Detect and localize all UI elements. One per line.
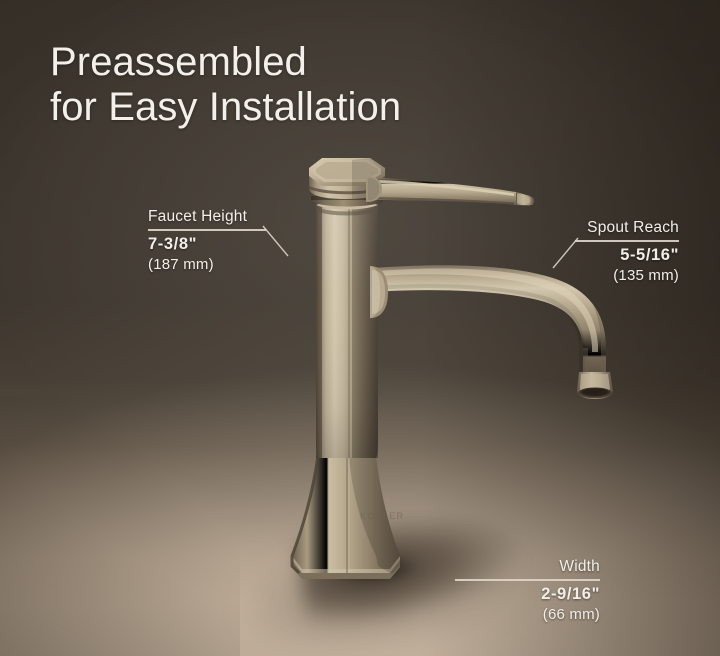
callout-width: Width 2-9/16" (66 mm) xyxy=(455,558,600,623)
callout-imperial-value: 5-5/16" xyxy=(575,246,679,265)
faucet-lever-handle xyxy=(366,176,534,206)
callout-imperial-value: 7-3/8" xyxy=(148,235,266,254)
brand-engraving: KOHLER xyxy=(360,511,404,521)
callout-rule xyxy=(455,579,600,581)
callout-title: Width xyxy=(455,558,600,576)
callout-metric-value: (135 mm) xyxy=(575,267,679,284)
callout-title: Spout Reach xyxy=(575,219,679,237)
callout-metric-value: (66 mm) xyxy=(455,606,600,623)
callout-rule xyxy=(148,229,266,231)
callout-rule xyxy=(575,240,679,242)
headline: Preassembled for Easy Installation xyxy=(50,40,401,130)
leader-line-faucet-height xyxy=(262,222,302,264)
product-dimension-image: KOHLER xyxy=(0,0,720,656)
faucet-base: KOHLER xyxy=(292,452,404,579)
callout-imperial-value: 2-9/16" xyxy=(455,585,600,604)
faucet-column xyxy=(316,201,378,459)
callout-spout-reach: Spout Reach 5-5/16" (135 mm) xyxy=(575,219,679,284)
callout-faucet-height: Faucet Height 7-3/8" (187 mm) xyxy=(148,208,266,273)
callout-title: Faucet Height xyxy=(148,208,266,226)
callout-metric-value: (187 mm) xyxy=(148,256,266,273)
faucet-spout xyxy=(370,265,613,399)
